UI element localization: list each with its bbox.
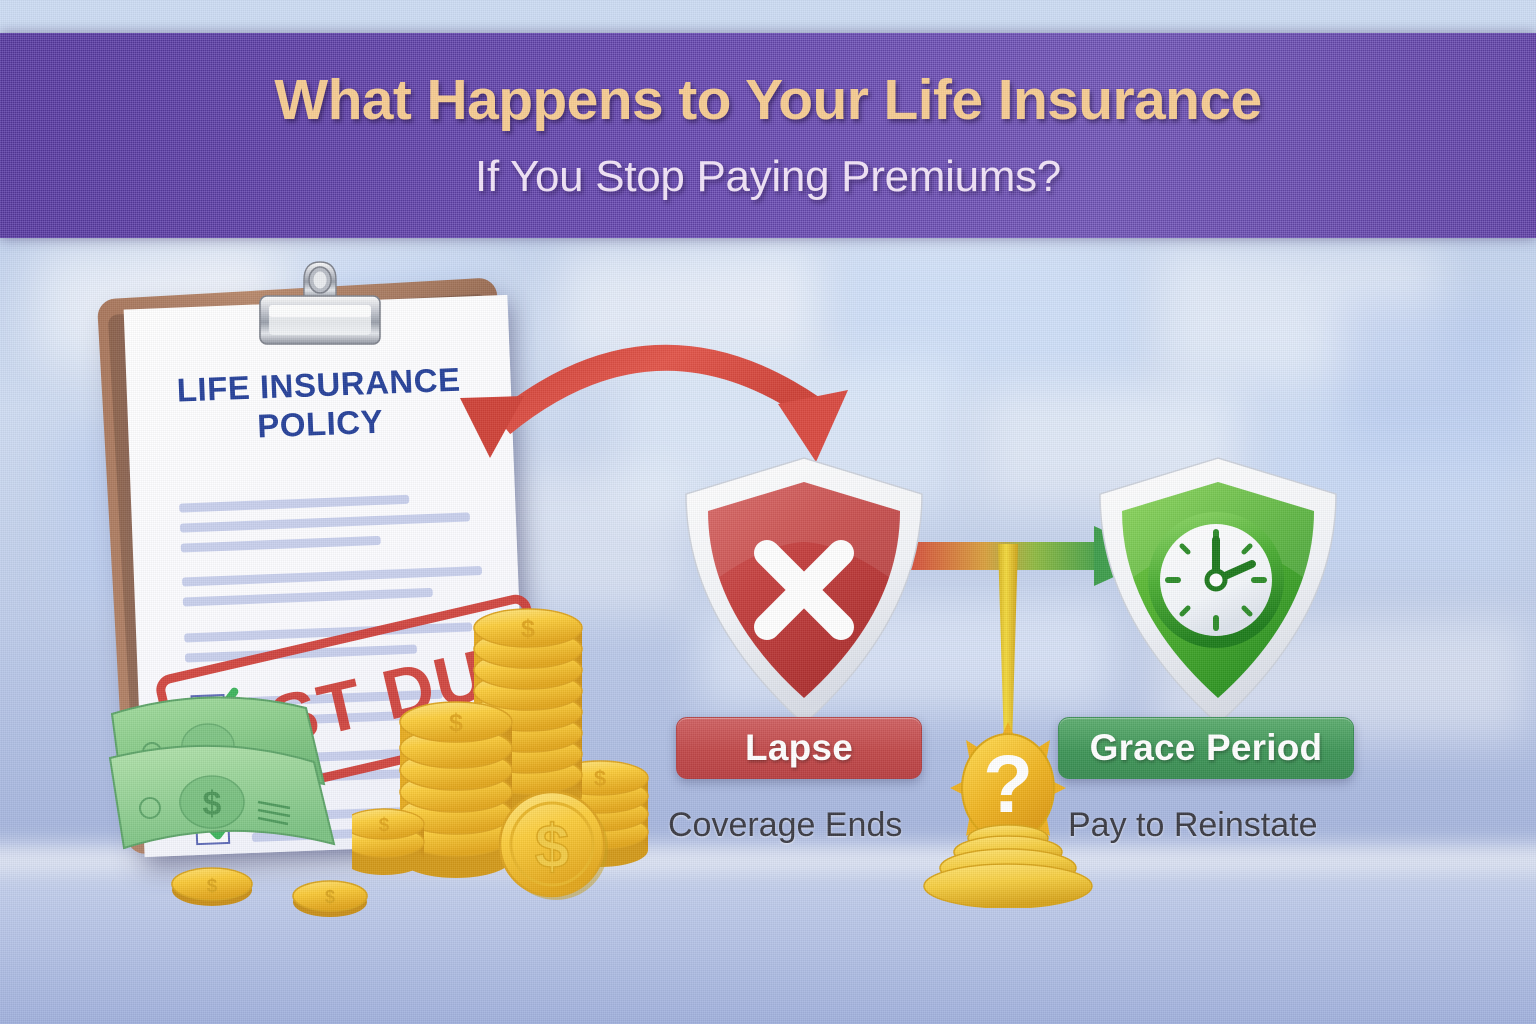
lapse-shield-icon — [672, 448, 936, 736]
document-title-line1: LIFE INSURANCE — [176, 361, 461, 409]
svg-text:$: $ — [325, 887, 335, 907]
header-banner: What Happens to Your Life Insurance If Y… — [0, 33, 1536, 238]
clipboard-clip-icon — [252, 258, 388, 350]
svg-text:$: $ — [379, 815, 390, 836]
svg-text:$: $ — [535, 813, 569, 882]
document-text-line — [181, 536, 381, 553]
infographic-canvas: What Happens to Your Life Insurance If Y… — [0, 0, 1536, 1024]
lapse-badge[interactable]: Lapse — [676, 717, 922, 779]
svg-text:$: $ — [521, 615, 535, 643]
grace-period-shield-icon — [1086, 448, 1350, 736]
svg-text:$: $ — [207, 876, 218, 897]
page-title: What Happens to Your Life Insurance — [274, 72, 1261, 129]
question-scale-illustration: ? — [900, 538, 1116, 908]
document-text-line — [179, 495, 409, 513]
svg-text:$: $ — [449, 709, 463, 737]
gold-coin-stacks-illustration: $ $ $ — [352, 600, 672, 930]
svg-text:$: $ — [594, 766, 606, 791]
svg-text:?: ? — [983, 739, 1033, 830]
document-title-line2: POLICY — [257, 403, 384, 445]
document-text-line — [182, 566, 482, 587]
document-text-line — [180, 512, 470, 532]
svg-text:$: $ — [203, 785, 222, 823]
page-subtitle: If You Stop Paying Premiums? — [475, 155, 1061, 199]
lapse-caption: Coverage Ends — [668, 806, 902, 845]
